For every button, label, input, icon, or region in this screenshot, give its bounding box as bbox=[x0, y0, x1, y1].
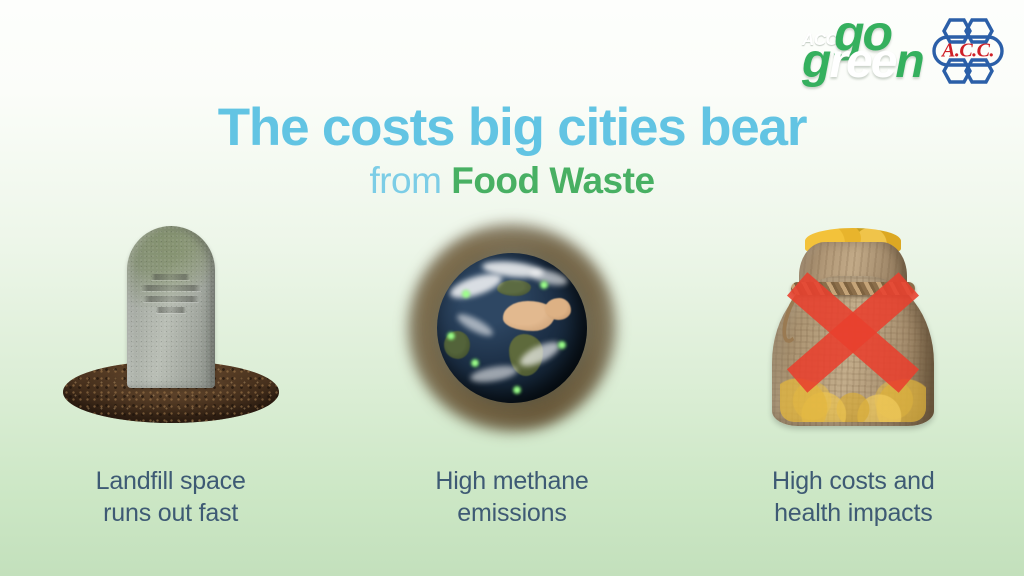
go-green-letter-n: n bbox=[895, 35, 922, 88]
title-block: The costs big cities bear from Food Wast… bbox=[0, 100, 1024, 200]
go-green-green-text: green bbox=[802, 38, 923, 86]
acc-go-green-logo: ACC go green bbox=[796, 12, 916, 90]
acc-badge-label: A.C.C. bbox=[926, 40, 1010, 63]
gravestone-engraving bbox=[137, 274, 205, 313]
green-glow-spot bbox=[539, 280, 549, 290]
page-subtitle: from Food Waste bbox=[0, 162, 1024, 201]
subtitle-emphasis: Food Waste bbox=[451, 160, 654, 201]
globe-icon bbox=[437, 253, 587, 403]
landmass-europe bbox=[497, 280, 531, 296]
subtitle-prefix: from bbox=[369, 160, 451, 201]
red-cross-out-icon bbox=[787, 271, 919, 393]
brand-bar: ACC go green A.C.C. bbox=[796, 12, 1010, 90]
green-glow-spot bbox=[557, 340, 567, 350]
page-title: The costs big cities bear bbox=[0, 100, 1024, 156]
gravestone-icon bbox=[127, 226, 215, 388]
go-green-letter-g: g bbox=[802, 35, 829, 88]
infographic-slide: ACC go green A.C.C. The costs big cities… bbox=[0, 0, 1024, 576]
acc-company-logo: A.C.C. bbox=[926, 14, 1010, 88]
polluted-earth-image bbox=[397, 220, 627, 435]
green-glow-spot bbox=[470, 358, 480, 368]
go-green-letters-ree: ree bbox=[829, 35, 895, 88]
green-glow-spot bbox=[461, 289, 471, 299]
cost-columns: Landfill space runs out fast bbox=[0, 220, 1024, 529]
column-costs: High costs and health impacts bbox=[693, 220, 1013, 529]
money-bag-wrapper bbox=[763, 228, 943, 428]
column-landfill: Landfill space runs out fast bbox=[11, 220, 331, 529]
caption-landfill: Landfill space runs out fast bbox=[96, 465, 246, 529]
earth-wrapper bbox=[412, 228, 612, 428]
green-glow-spot bbox=[446, 331, 456, 341]
tombstone-on-soil-image bbox=[56, 220, 286, 435]
money-bag-crossed-out-image bbox=[738, 220, 968, 435]
landmass-arabia bbox=[545, 298, 571, 320]
caption-costs: High costs and health impacts bbox=[772, 465, 935, 529]
column-methane: High methane emissions bbox=[352, 220, 672, 529]
green-glow-spot bbox=[512, 385, 522, 395]
caption-methane: High methane emissions bbox=[435, 465, 588, 529]
